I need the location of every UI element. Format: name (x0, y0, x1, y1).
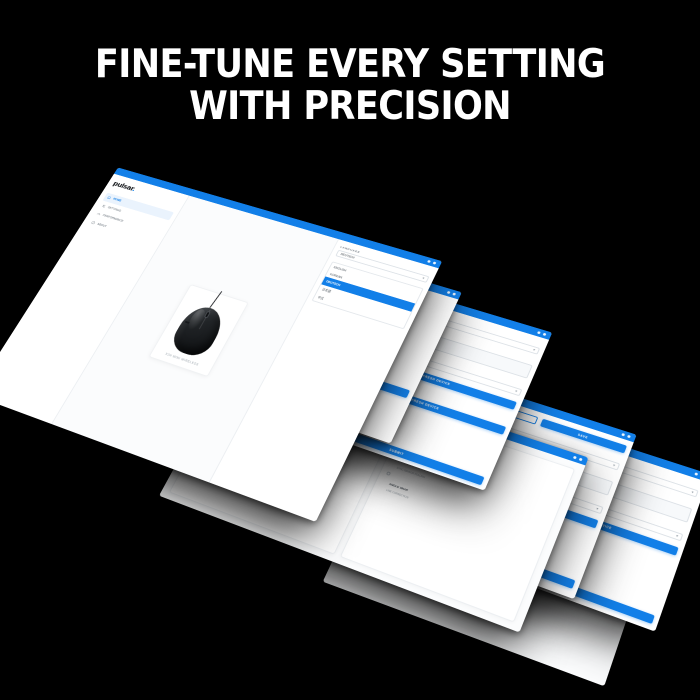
window-dot-close[interactable] (578, 458, 582, 462)
gauge-icon (96, 212, 102, 216)
window-dot-close[interactable] (542, 333, 546, 336)
window-dot-minimize[interactable] (572, 456, 576, 460)
chevron-down-icon (613, 464, 616, 466)
sidebar-item-label: ABOUT (97, 222, 108, 228)
chevron-down-icon (515, 390, 518, 392)
sidebar-item-label: HOME (112, 197, 122, 202)
info-icon (91, 220, 97, 224)
chevron-down-icon (676, 535, 679, 537)
window-dot-minimize[interactable] (427, 260, 431, 263)
headline-line-1: FINE-TUNE EVERY SETTING (95, 42, 605, 87)
window-dot-minimize[interactable] (694, 472, 698, 476)
page-title: FINE-TUNE EVERY SETTING WITH PRECISION (0, 44, 700, 128)
mouse-cable (209, 291, 222, 308)
language-panel-value: DEUTSCH (340, 252, 355, 259)
headline-line-2: WITH PRECISION (0, 86, 700, 128)
chevron-down-icon (691, 491, 694, 493)
window-dot-minimize[interactable] (537, 331, 541, 334)
radio-icon[interactable] (386, 472, 391, 477)
chevron-down-icon (533, 349, 536, 351)
mouse-image (167, 296, 232, 360)
chevron-down-icon (596, 507, 599, 509)
window-dot-close[interactable] (432, 261, 436, 264)
window-dot-minimize[interactable] (446, 291, 450, 294)
promo-banner: FINE-TUNE EVERY SETTING WITH PRECISION D… (0, 0, 700, 700)
sliders-icon (101, 204, 107, 208)
product-card[interactable]: X2H MINI WIRELESS (148, 284, 248, 377)
sidebar-item-label: SETTINGS (107, 206, 122, 213)
home-icon (106, 195, 112, 199)
window-dot-close[interactable] (452, 292, 456, 295)
chevron-down-icon (422, 277, 425, 279)
window-dot-minimize[interactable] (621, 433, 625, 437)
window-dot-close[interactable] (627, 435, 631, 439)
